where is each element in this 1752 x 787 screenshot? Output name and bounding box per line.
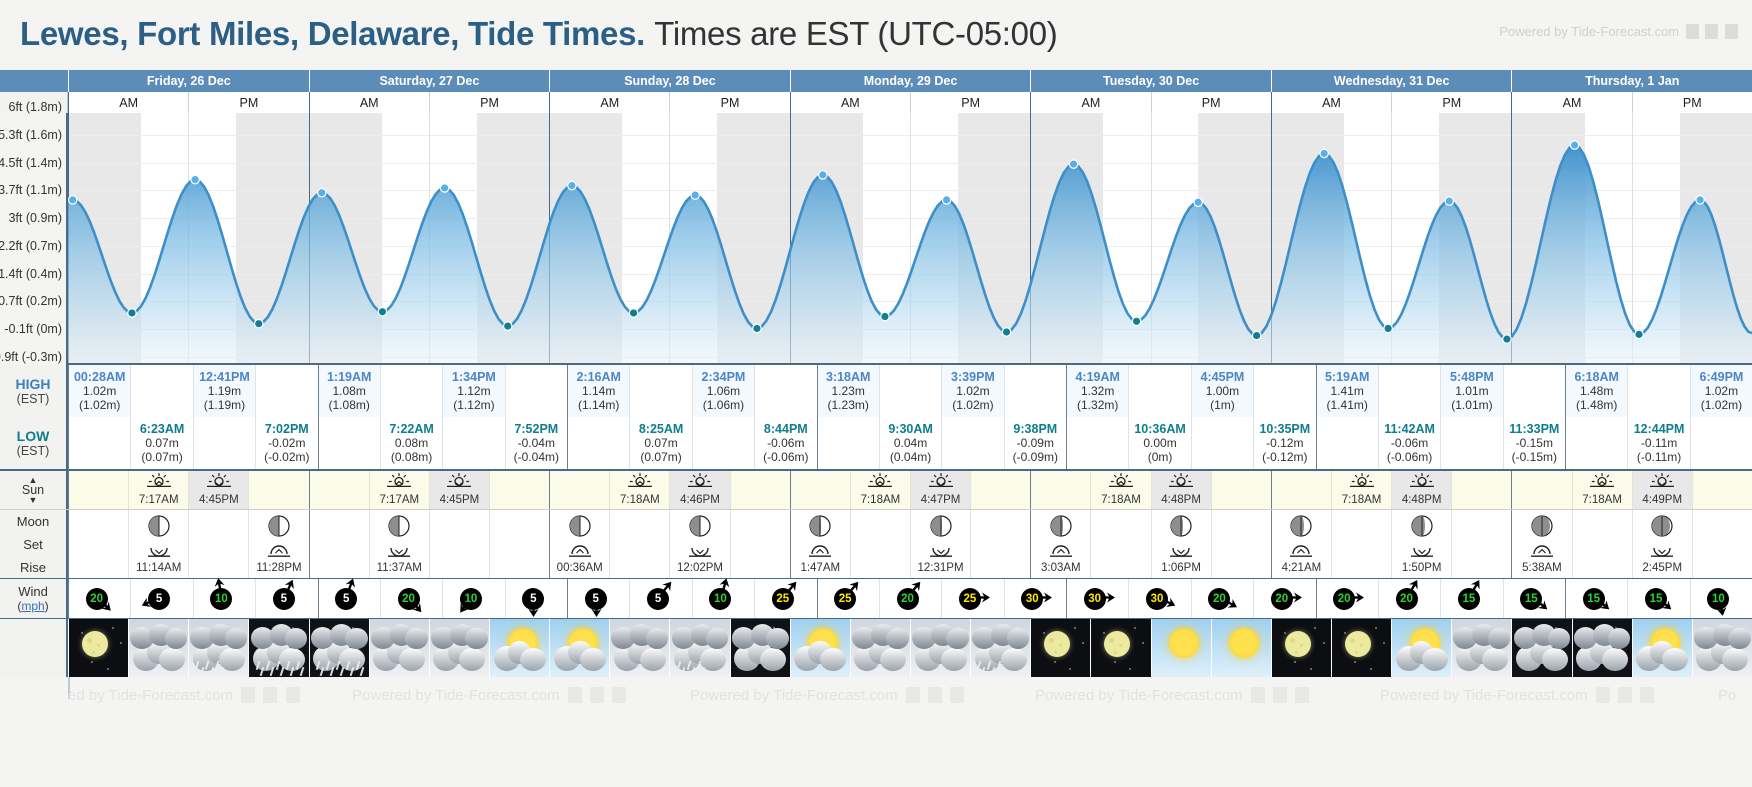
low-tide-marker[interactable]: [378, 308, 386, 316]
rain-night-icon: [310, 619, 369, 677]
high-cell: [1128, 365, 1190, 417]
high-tide-marker[interactable]: [1320, 149, 1328, 157]
moon-cell: [1331, 510, 1391, 578]
sun-cell: 7:18AM: [850, 471, 910, 509]
sun-cell: 4:45PM: [429, 471, 489, 509]
wind-badge[interactable]: 25: [831, 582, 865, 616]
halfday-label: AM: [1322, 96, 1341, 110]
high-cell: 5:19AM1.41m(1.41m): [1316, 365, 1378, 417]
day-header-0: Friday, 26 Dec: [68, 70, 309, 92]
moon-cell: [429, 510, 489, 578]
moon-phase-icon: [267, 514, 291, 538]
high-height-alt: (1.08m): [329, 398, 370, 412]
wind-cell: 15: [1627, 579, 1689, 618]
page-title-main: Lewes, Fort Miles, Delaware, Tide Times.: [20, 15, 645, 52]
sun-time: 4:47PM: [921, 493, 961, 507]
low-height-alt: (0.07m): [640, 450, 681, 464]
wind-badge[interactable]: 25: [769, 582, 803, 616]
weather-cell: [1090, 619, 1150, 677]
high-tide-marker[interactable]: [1696, 196, 1704, 204]
tide-chart-page: Lewes, Fort Miles, Delaware, Tide Times.…: [0, 0, 1752, 787]
clear-night-icon: [1091, 619, 1150, 677]
wind-badge[interactable]: 5: [582, 582, 616, 616]
wind-badge[interactable]: 20: [395, 582, 429, 616]
partly-cloudy-day-icon: [550, 619, 609, 677]
clear-night-icon: [1272, 619, 1331, 677]
high-tide-marker[interactable]: [1194, 198, 1202, 206]
low-tide-marker[interactable]: [1252, 331, 1260, 339]
low-tide-marker[interactable]: [504, 322, 512, 330]
low-tide-marker[interactable]: [1002, 328, 1010, 336]
moonset-icon: [1409, 544, 1435, 561]
y-axis-tick-9: -0.9ft (-0.3m): [0, 350, 62, 364]
high-cell: [1627, 365, 1689, 417]
halfday-label: AM: [841, 96, 860, 110]
low-tide-cells: 6:23AM0.07m(0.07m)7:02PM-0.02m(-0.02m)7:…: [68, 417, 1752, 469]
wind-label: Wind: [18, 584, 48, 599]
weather-cell: [429, 619, 489, 677]
high-time: 6:18AM: [1574, 370, 1618, 384]
moon-phase-icon: [808, 514, 832, 538]
high-height-alt: (1.41m): [1327, 398, 1368, 412]
low-tide-marker[interactable]: [255, 319, 263, 327]
moon-cell: 3:03AM: [1030, 510, 1090, 578]
sunrise-icon: [1108, 473, 1134, 489]
wind-badge[interactable]: 20: [1330, 582, 1364, 616]
moon-row-label: Moon Set Rise: [0, 510, 68, 578]
wind-direction-arrow-icon: [1407, 579, 1420, 597]
sun-cell: [248, 471, 308, 509]
wind-cell: 25: [941, 579, 1003, 618]
wind-direction-arrow-icon: [1350, 590, 1363, 608]
footer-glyph-11-icon: [1273, 687, 1287, 703]
y-axis-tick-8: -0.1ft (0m): [4, 322, 62, 336]
footer-watermark-4-label: Powered by Tide-Forecast.com: [1035, 687, 1243, 704]
low-tide-marker[interactable]: [753, 324, 761, 332]
footer-glyph-10-icon: [1251, 687, 1265, 703]
sun-cell: 4:48PM: [1391, 471, 1451, 509]
day-header-1: Saturday, 27 Dec: [309, 70, 550, 92]
overcast-day-icon: [129, 619, 188, 677]
high-time: 12:41PM: [199, 370, 250, 384]
moon-cell: 12:02PM: [669, 510, 729, 578]
moon-cell: 2:45PM: [1632, 510, 1692, 578]
high-height-alt: (1m): [1210, 398, 1235, 412]
low-cell: 6:23AM0.07m(0.07m): [130, 417, 192, 469]
low-tide-marker[interactable]: [881, 312, 889, 320]
tide-chart: 6ft (1.8m)5.3ft (1.6m)4.5ft (1.4m)3.7ft …: [0, 113, 1752, 365]
moon-time: 1:47AM: [800, 561, 840, 575]
weather-cell: [1451, 619, 1511, 677]
high-height-alt: (1.14m): [578, 398, 619, 412]
wind-badge[interactable]: 20: [1268, 582, 1302, 616]
moon-cell: 1:47AM: [790, 510, 850, 578]
footer-glyph-5-icon: [590, 687, 604, 703]
low-height: 0.04m: [894, 436, 927, 450]
moon-cell: [1572, 510, 1632, 578]
low-tide-marker[interactable]: [1132, 317, 1140, 325]
high-height: 1.14m: [582, 384, 615, 398]
high-height: 1.12m: [457, 384, 490, 398]
moon-cell: 4:21AM: [1271, 510, 1331, 578]
moon-cell: [68, 510, 128, 578]
high-cell: [1378, 365, 1440, 417]
sun-cell: 7:17AM: [369, 471, 429, 509]
footer-watermark-1-label: ed by Tide-Forecast.com: [68, 687, 233, 704]
wind-direction-arrow-icon: [344, 578, 357, 596]
high-tide-marker[interactable]: [191, 175, 199, 183]
halfday-header-8: AM: [1030, 92, 1150, 113]
footer-glyph-12-icon: [1295, 687, 1309, 703]
low-cell: 9:38PM-0.09m(-0.09m): [1004, 417, 1066, 469]
moonrise-icon: [1288, 544, 1314, 558]
high-cell: [629, 365, 691, 417]
wind-badge[interactable]: 10: [207, 582, 241, 616]
wind-badge[interactable]: 20: [1393, 582, 1427, 616]
low-cell: [941, 417, 1003, 469]
low-tide-marker[interactable]: [128, 309, 136, 317]
wind-cell: 10: [442, 579, 504, 618]
wind-badge[interactable]: 5: [644, 582, 678, 616]
cloud-icon: [1728, 628, 1750, 649]
high-tide-marker[interactable]: [1445, 197, 1453, 205]
wind-badge[interactable]: 30: [1081, 582, 1115, 616]
cloud-icon: [766, 628, 788, 649]
cloud-icon: [1482, 648, 1508, 671]
wind-cells: 2051055201055510252520253030302020202015…: [68, 579, 1752, 618]
high-cell: 1:34PM1.12m(1.12m): [442, 365, 504, 417]
halfday-label: AM: [360, 96, 379, 110]
moon-cell: 11:28PM: [248, 510, 308, 578]
sun-icon: [1229, 628, 1259, 658]
wind-cell: 20: [1378, 579, 1440, 618]
sun-time: 7:18AM: [1101, 493, 1141, 507]
high-tide-marker[interactable]: [318, 189, 326, 197]
footer-watermark-5: Powered by Tide-Forecast.com: [1380, 687, 1654, 704]
sun-time: 4:45PM: [199, 493, 239, 507]
wind-cell: 5: [629, 579, 691, 618]
wind-badge[interactable]: 10: [457, 582, 491, 616]
high-height: 1.02m: [956, 384, 989, 398]
sun-cell: [1511, 471, 1571, 509]
partly-cloudy-day-icon: [490, 619, 549, 677]
moon-phase-icon: [688, 514, 712, 541]
halfday-header-7: PM: [910, 92, 1030, 113]
brand-glyph-1-icon: [1686, 24, 1699, 39]
low-tide-marker[interactable]: [1635, 330, 1643, 338]
cloud-icon: [646, 628, 668, 649]
low-time: 8:25AM: [639, 422, 683, 436]
weather-cell: [1391, 619, 1451, 677]
wind-cell: 30: [1128, 579, 1190, 618]
high-height: 1.06m: [707, 384, 740, 398]
weather-cell: [1632, 619, 1692, 677]
sun-cell: 4:48PM: [1151, 471, 1211, 509]
moonrise-icon: [567, 544, 593, 561]
high-height-alt: (1.19m): [204, 398, 245, 412]
clear-night-icon: [1332, 619, 1391, 677]
halfday-label: PM: [1442, 96, 1461, 110]
low-tide-marker[interactable]: [1503, 335, 1511, 343]
high-time: 4:19AM: [1075, 370, 1119, 384]
moonset-icon: [1168, 544, 1194, 561]
high-height-alt: (1.06m): [703, 398, 744, 412]
high-tide-marker[interactable]: [819, 171, 827, 179]
moonset-icon: [386, 544, 412, 561]
low-height-alt: (-0.04m): [514, 450, 559, 464]
footer-glyph-6-icon: [612, 687, 626, 703]
moon-phase-icon: [929, 514, 953, 541]
sunrise-icon: [627, 473, 653, 489]
moonset-icon: [928, 544, 954, 558]
low-cell: [692, 417, 754, 469]
sun-label: Sun: [22, 485, 44, 496]
moon-rise-label: Rise: [20, 556, 46, 579]
wind-direction-arrow-icon: [527, 602, 540, 620]
weather-row-label: [0, 619, 68, 677]
high-cell: 00:28AM1.02m(1.02m): [68, 365, 130, 417]
moon-cell: [1451, 510, 1511, 578]
wind-badge[interactable]: 20: [83, 582, 117, 616]
day-header-label: Tuesday, 30 Dec: [1103, 74, 1199, 88]
y-axis-tick-6: 1.4ft (0.4m): [0, 267, 62, 281]
sunrise-icon: [386, 473, 412, 492]
low-height-alt: (0.08m): [391, 450, 432, 464]
cloud-icon: [1542, 648, 1568, 671]
high-cell: 4:45PM1.00m(1m): [1191, 365, 1253, 417]
high-time: 5:19AM: [1325, 370, 1369, 384]
sun-time: 7:17AM: [379, 493, 419, 507]
partly-cloudy-day-icon: [1392, 619, 1451, 677]
high-height: 1.02m: [1705, 384, 1738, 398]
cloud-icon: [1488, 628, 1510, 649]
moonset-icon: [1649, 544, 1675, 558]
weather-cell: [790, 619, 850, 677]
high-cell: 2:16AM1.14m(1.14m): [567, 365, 629, 417]
sunrise-icon: [1349, 473, 1375, 489]
high-cell: 5:48PM1.01m(1.01m): [1440, 365, 1502, 417]
sun-cell: 7:17AM: [128, 471, 188, 509]
cloud-icon: [580, 648, 606, 671]
moonrise-icon: [807, 544, 833, 561]
partly-cloudy-day-icon: [1633, 619, 1692, 677]
footer-glyph-7-icon: [906, 687, 920, 703]
high-time: 4:45PM: [1201, 370, 1245, 384]
halfday-label: AM: [600, 96, 619, 110]
low-time: 9:38PM: [1013, 422, 1057, 436]
low-tide-label: LOW: [17, 428, 50, 444]
high-height-alt: (1.48m): [1576, 398, 1617, 412]
high-tide-marker[interactable]: [942, 196, 950, 204]
sun-cell: 7:18AM: [1572, 471, 1632, 509]
low-height: -0.09m: [1017, 436, 1054, 450]
moon-phase-icon: [1169, 514, 1193, 538]
footer-glyph-4-icon: [568, 687, 582, 703]
sunrise-icon: [146, 473, 172, 489]
high-cell: [380, 365, 442, 417]
moon-time: 5:38AM: [1522, 561, 1562, 575]
wind-badge[interactable]: 5: [270, 582, 304, 616]
high-tide-marker[interactable]: [1570, 141, 1578, 149]
low-cell: [1565, 417, 1627, 469]
header-watermark-label: Powered by Tide-Forecast.com: [1499, 24, 1679, 39]
sunset-icon: [1409, 473, 1435, 489]
tide-plot-area[interactable]: [68, 113, 1752, 365]
wind-badge[interactable]: 5: [519, 582, 553, 616]
low-height: -0.15m: [1516, 436, 1553, 450]
high-tide-marker[interactable]: [440, 184, 448, 192]
wind-badge[interactable]: 20: [894, 582, 928, 616]
wind-badge[interactable]: 5: [332, 582, 366, 616]
weather-cell: [1030, 619, 1090, 677]
rain-drop-icon: [279, 666, 284, 675]
moon-time: 1:06PM: [1161, 561, 1201, 575]
sun-time: 4:49PM: [1642, 493, 1682, 507]
high-time: 3:18AM: [826, 370, 870, 384]
low-tide-row: LOW (EST) 6:23AM0.07m(0.07m)7:02PM-0.02m…: [0, 417, 1752, 469]
high-cell: 6:49PM1.02m(1.02m): [1690, 365, 1752, 417]
sun-time: 7:18AM: [1342, 493, 1382, 507]
wind-badge[interactable]: 15: [1642, 582, 1676, 616]
weather-cell: [970, 619, 1030, 677]
low-cell: 7:52PM-0.04m(-0.04m): [505, 417, 567, 469]
high-time: 6:49PM: [1700, 370, 1744, 384]
moon-time: 2:45PM: [1642, 561, 1682, 575]
halfday-header-1: PM: [188, 92, 308, 113]
high-tide-marker[interactable]: [568, 181, 576, 189]
wind-badge[interactable]: 15: [1580, 582, 1614, 616]
wind-unit: (mph): [17, 599, 48, 613]
halfday-header-12: AM: [1511, 92, 1631, 113]
clear-night-icon: [69, 619, 128, 677]
day-header-4: Tuesday, 30 Dec: [1030, 70, 1271, 92]
wind-direction-arrow-icon: [1101, 590, 1114, 608]
sun-cell: [1692, 471, 1752, 509]
moonset-icon: [1409, 544, 1435, 558]
high-tide-marker[interactable]: [69, 196, 77, 204]
high-height-alt: (1.23m): [828, 398, 869, 412]
moon-phase-icon: [1289, 514, 1313, 538]
sunrise-icon: [1589, 473, 1615, 489]
cloud-icon: [1608, 628, 1630, 649]
weather-cells: [68, 619, 1752, 677]
moon-cell: 5:38AM: [1511, 510, 1571, 578]
wind-badge[interactable]: 5: [145, 582, 179, 616]
wind-direction-arrow-icon: [1715, 601, 1728, 619]
header-watermark: Powered by Tide-Forecast.com: [1499, 24, 1738, 39]
sunny-icon: [1152, 619, 1211, 677]
high-cell: 1:19AM1.08m(1.08m): [318, 365, 380, 417]
high-tide-marker[interactable]: [1069, 160, 1077, 168]
wind-unit-link[interactable]: mph: [21, 599, 44, 613]
moonrise-icon: [266, 544, 292, 558]
low-time: 7:52PM: [514, 422, 558, 436]
wind-cell: 25: [754, 579, 816, 618]
sun-cell: [1211, 471, 1271, 509]
wind-direction-arrow-icon: [976, 590, 989, 608]
low-height: -0.02m: [268, 436, 305, 450]
sun-row: ▲ Sun ▼ 7:17AM4:45PM7:17AM4:45PM7:18AM4:…: [0, 469, 1752, 510]
y-axis-tick-0: 6ft (1.8m): [9, 100, 63, 114]
footer-watermark-2: Powered by Tide-Forecast.com: [352, 687, 626, 704]
high-tide-marker[interactable]: [691, 191, 699, 199]
wind-badge[interactable]: 10: [1704, 582, 1738, 616]
halfday-header-row: AMPMAMPMAMPMAMPMAMPMAMPMAMPM: [0, 92, 1752, 113]
footer-glyph-3-icon: [286, 687, 300, 703]
high-cell: [1503, 365, 1565, 417]
wind-direction-arrow-icon: [1597, 597, 1610, 615]
low-height: 0.07m: [644, 436, 677, 450]
moon-phase-icon: [1410, 514, 1434, 541]
footer-glyph-9-icon: [950, 687, 964, 703]
wind-badge[interactable]: 10: [706, 582, 740, 616]
sunset-icon: [928, 473, 954, 492]
low-tide-marker[interactable]: [629, 309, 637, 317]
moon-time: 11:14AM: [136, 561, 181, 575]
moon-cell: 11:14AM: [128, 510, 188, 578]
low-height-alt: (0.07m): [141, 450, 182, 464]
wind-cell: 30: [1004, 579, 1066, 618]
wind-cell: 20: [380, 579, 442, 618]
wind-badge[interactable]: 15: [1455, 582, 1489, 616]
wind-direction-arrow-icon: [909, 580, 922, 598]
low-cell: 7:02PM-0.02m(-0.02m): [255, 417, 317, 469]
cloud-icon: [1722, 648, 1748, 671]
high-cell: [505, 365, 567, 417]
low-tide-timezone: (EST): [17, 444, 50, 458]
rain-drop-icon: [215, 661, 220, 670]
low-cell: 7:22AM0.08m(0.08m): [380, 417, 442, 469]
sun-cell: [549, 471, 609, 509]
wind-row-label: Wind (mph): [0, 579, 68, 618]
moon-cell: [609, 510, 669, 578]
sun-time: 4:45PM: [440, 493, 480, 507]
cloud-icon: [941, 648, 967, 671]
low-time: 6:23AM: [140, 422, 184, 436]
rain-drop-icon: [1001, 666, 1006, 675]
sun-cell: [1030, 471, 1090, 509]
low-cell: 10:36AM0.00m(0m): [1128, 417, 1190, 469]
moon-time: 11:28PM: [256, 561, 301, 575]
weather-cell: [549, 619, 609, 677]
moonrise-icon: [1288, 544, 1314, 561]
moon-cell: [309, 510, 369, 578]
wind-direction-arrow-icon: [1659, 597, 1672, 615]
weather-cell: [1151, 619, 1211, 677]
sun-cell: 4:45PM: [188, 471, 248, 509]
wind-badge[interactable]: 20: [1205, 582, 1239, 616]
low-tide-marker[interactable]: [1384, 324, 1392, 332]
wind-cell: 20: [879, 579, 941, 618]
moon-cell: [1692, 510, 1752, 578]
low-time: 11:42AM: [1384, 422, 1435, 436]
halfday-label: AM: [119, 96, 138, 110]
moon-phase-icon: [929, 514, 953, 538]
moon-phase-icon: [267, 514, 291, 541]
low-height-alt: (0.04m): [890, 450, 931, 464]
day-header-label: Friday, 26 Dec: [147, 74, 231, 88]
weather-cell: [1271, 619, 1331, 677]
wind-badge[interactable]: 15: [1517, 582, 1551, 616]
wind-badge[interactable]: 30: [1143, 582, 1177, 616]
moon-phase-icon: [1410, 514, 1434, 538]
cloud-icon: [459, 648, 485, 671]
cloud-icon: [465, 628, 487, 649]
sunset-icon: [687, 473, 713, 489]
wind-badge[interactable]: 25: [956, 582, 990, 616]
wind-badge[interactable]: 30: [1018, 582, 1052, 616]
halfday-header-2: AM: [309, 92, 429, 113]
